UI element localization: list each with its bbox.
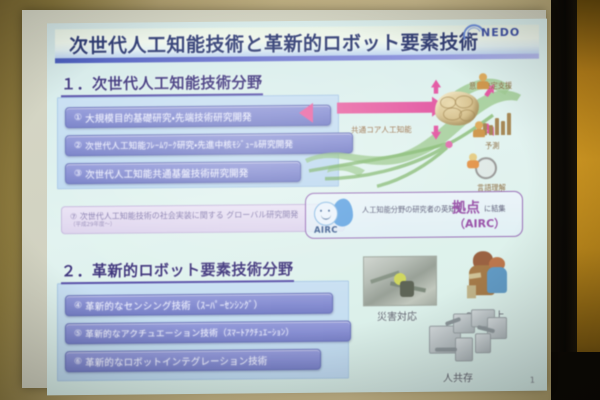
bullet-number: ⑦ — [70, 212, 77, 221]
thumbnail-human-coexistence — [425, 307, 521, 368]
wall-dark-corner — [551, 352, 600, 400]
section-1-heading: １．次世代人工知能技術分野 — [61, 71, 263, 97]
bullet-label: 革新的なアクチュエーション技術（ｽﾏｰﾄｱｸﾁｭｴｰｼｮﾝ） — [85, 325, 294, 340]
projection-screen: 次世代人工知能技術と革新的ロボット要素技術 NEDO １．次世代人工知能技術分野… — [22, 10, 546, 388]
slide-title-bar: 次世代人工知能技術と革新的ロボット要素技術 NEDO — [55, 25, 539, 64]
bullet-number: ③ — [74, 169, 82, 179]
japan-map-diagram: 共通コア人工知能 意思決定支援 予測 言語理解 — [299, 65, 537, 193]
bullet-number: ④ — [74, 301, 82, 311]
bullet-item-7-faint[interactable]: ⑦ 次世代人工知能技術の社会実装に関する グローバル研究開発 （平成29年度～） — [61, 204, 345, 235]
thumbnail-qol — [467, 251, 519, 305]
core-ai-label: 共通コア人工知能 — [351, 124, 412, 136]
pink-arrow-left-head — [299, 103, 313, 123]
person-icon — [473, 121, 485, 137]
bullet-item-6[interactable]: ⑥ 革新的なロボットインテグレーション技術 — [65, 349, 321, 372]
bullet-item-3[interactable]: ③ 次世代人工知能共通基盤技術研究開発 — [65, 161, 301, 184]
bullet-item-5[interactable]: ⑤ 革新的なアクチュエーション技術（ｽﾏｰﾄｱｸﾁｭｴｰｼｮﾝ） — [65, 320, 351, 344]
pink-arrow-to-brain — [337, 102, 433, 114]
decision-person-icon — [477, 73, 489, 89]
slide-page-number: 1 — [530, 376, 535, 385]
bullet-number: ⑤ — [74, 329, 82, 339]
map-label-prediction: 予測 — [485, 141, 499, 151]
nedo-logo: NEDO — [461, 23, 533, 46]
bullet-item-4[interactable]: ④ 革新的なセンシング技術（ｽｰﾊﾟｰｾﾝｼﾝｸﾞ） — [65, 293, 333, 317]
bullet-label: 大規模目的基礎研究・先端技術研究開発 — [85, 109, 252, 125]
bullet-label: 次世代人工知能ﾌﾚｰﾑﾜｰｸ研究・先進中核ﾓｼﾞｭｰﾙ研究開発 — [85, 138, 293, 152]
bullet-item-1[interactable]: ① 大規模目的基礎研究・先端技術研究開発 — [65, 105, 331, 129]
presentation-slide: 次世代人工知能技術と革新的ロボット要素技術 NEDO １．次世代人工知能技術分野… — [47, 19, 547, 396]
bullet-number: ② — [74, 141, 82, 151]
bullet-label: 次世代人工知能共通基盤技術研究開発 — [85, 165, 248, 181]
map-label-decision-support: 意思決定支援 — [469, 81, 512, 91]
bullet-number: ① — [74, 113, 82, 123]
caption-human-coexistence: 人共存 — [443, 369, 473, 384]
airc-lead-text: 人工知能分野の研究者の英知を — [362, 204, 463, 215]
bullet-label: 次世代人工知能技術の社会実装に関する グローバル研究開発 — [80, 210, 298, 221]
airc-subtitle: （AIRC） — [454, 215, 505, 231]
wall-dark-band — [551, 0, 577, 400]
caption-disaster-response: 災害対応 — [377, 308, 417, 323]
bullet-label: 革新的なセンシング技術（ｽｰﾊﾟｰｾﾝｼﾝｸﾞ） — [85, 297, 263, 313]
nedo-logo-text: NEDO — [481, 26, 520, 39]
bullet-number: ⑥ — [74, 357, 82, 367]
section-2-heading: ２．革新的ロボット要素技術分野 — [61, 258, 294, 284]
wheelchair-icon — [467, 153, 495, 177]
bullet-label: 革新的なロボットインテグレーション技術 — [85, 353, 267, 369]
airc-trailing-text: に結集 — [484, 204, 506, 214]
slide-title: 次世代人工知能技術と革新的ロボット要素技術 — [69, 27, 479, 58]
thumbnail-disaster-response — [363, 256, 437, 307]
bullet-7-note: （平成29年度～） — [70, 220, 336, 229]
wall-amber-strip — [575, 0, 600, 400]
airc-logo-icon: AIRC — [312, 198, 358, 234]
screenshot-root: 次世代人工知能技術と革新的ロボット要素技術 NEDO １．次世代人工知能技術分野… — [0, 0, 600, 400]
airc-logo-text: AIRC — [314, 226, 338, 236]
airc-callout-box: AIRC 人工知能分野の研究者の英知を 拠点 に結集 （AIRC） — [305, 191, 523, 239]
